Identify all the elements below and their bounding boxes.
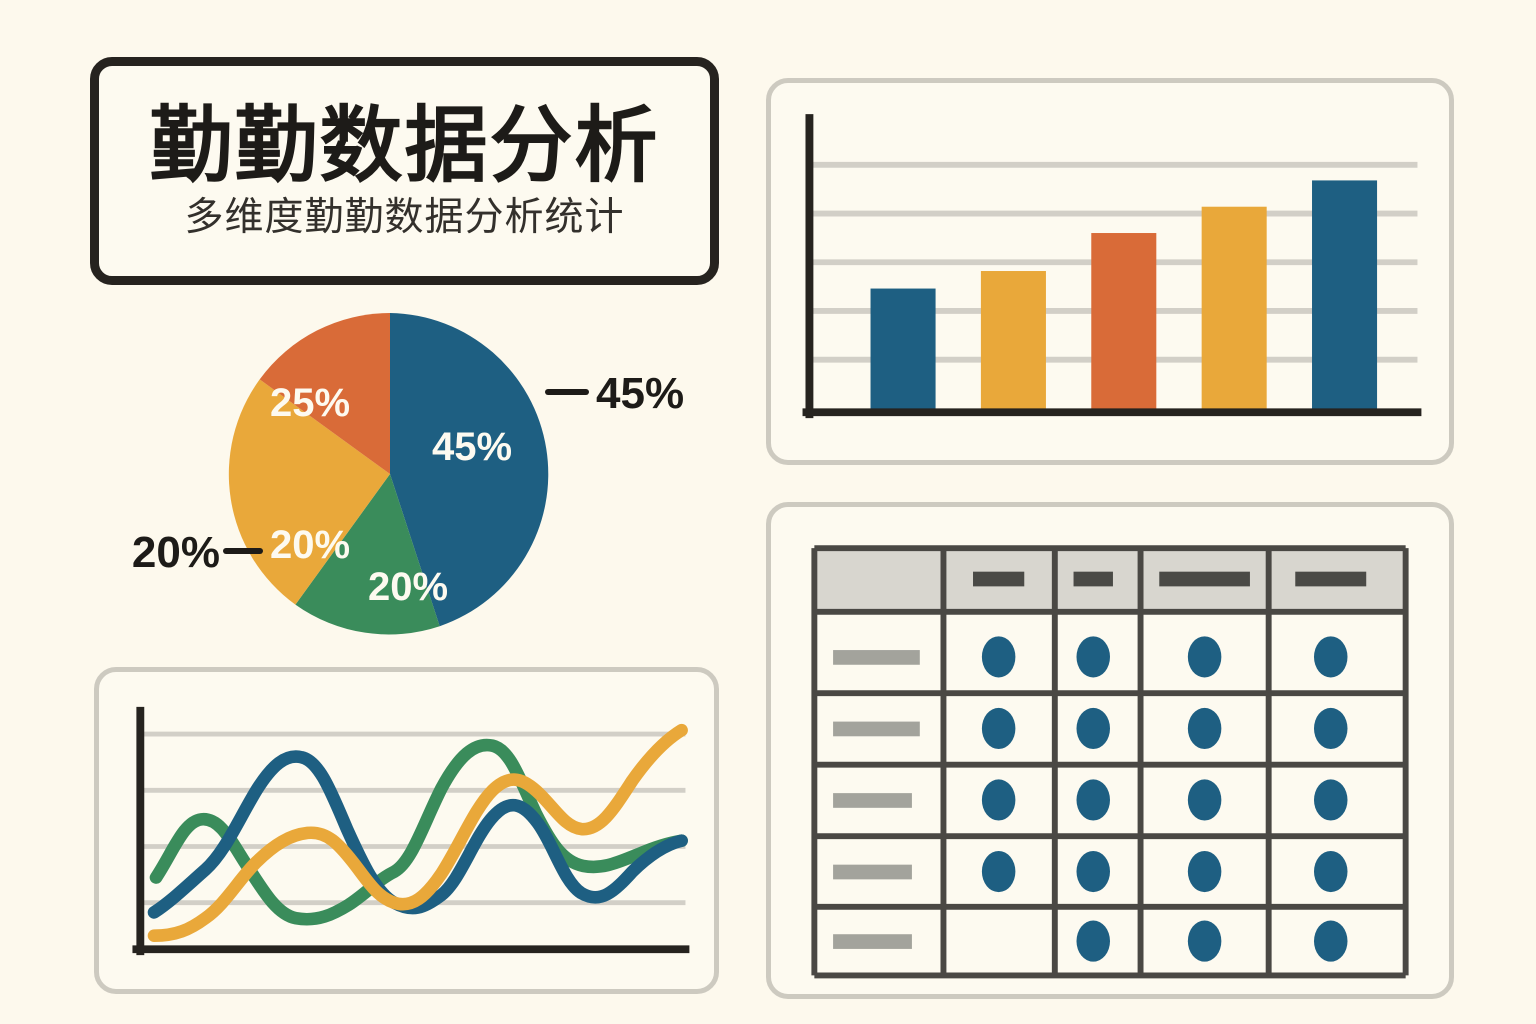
table-dot [1076,779,1110,820]
bar-1 [871,289,936,413]
table-dot [1188,708,1222,749]
table-dot [1314,921,1348,962]
bar-5 [1312,180,1377,412]
table-header-bar-3 [1159,572,1250,587]
table-header-bar-2 [1074,572,1113,587]
table-dot [1188,636,1222,677]
table-dot [1188,779,1222,820]
table-dot [1188,851,1222,892]
pie-label-orange: 25% [270,381,350,425]
line-chart-panel [94,667,719,994]
bar-chart-panel [766,78,1454,465]
table-dot [982,851,1016,892]
table-dot [1188,921,1222,962]
pie-label-blue: 45% [432,425,512,469]
table-row-label-4 [833,865,912,880]
table-dot [1314,636,1348,677]
page-title: 勤勤数据分析 [150,102,660,189]
table-row-label-1 [833,650,920,665]
table-header-bar-1 [973,572,1024,587]
pie-callout-right: 45% [596,369,684,418]
table-panel [766,502,1454,999]
page-subtitle: 多维度勤勤数据分析统计 [184,197,624,240]
table-dot [1076,851,1110,892]
table-header-bar-4 [1295,572,1366,587]
bar-4 [1202,207,1267,413]
table-row-label-3 [833,793,912,808]
data-table-svg [771,507,1449,994]
table-dot [1314,779,1348,820]
table-gridlines [814,548,1405,975]
pie-label-green: 20% [368,565,448,609]
table-dot [982,636,1016,677]
table-dots [982,636,1348,961]
table-dot [1076,708,1110,749]
table-dot [1076,921,1110,962]
table-dot [1076,636,1110,677]
table-dot [982,779,1016,820]
infographic-canvas: 勤勤数据分析 多维度勤勤数据分析统计 45% 20% 20% 25% 45% 2… [0,0,1536,1024]
pie-chart-svg: 45% 20% 20% 25% 45% 20% [108,288,708,660]
pie-callout-left: 20% [132,528,220,577]
pie-chart: 45% 20% 20% 25% 45% 20% [108,288,708,660]
table-dot [1314,708,1348,749]
bar-3 [1091,233,1156,412]
title-card: 勤勤数据分析 多维度勤勤数据分析统计 [90,57,719,285]
line-chart-svg [99,672,714,989]
table-row-label-5 [833,934,912,949]
table-dot [1314,851,1348,892]
table-row-label-2 [833,722,920,737]
pie-label-yellow: 20% [270,523,350,567]
bar-chart-svg [771,83,1449,460]
table-dot [982,708,1016,749]
bar-2 [981,271,1046,412]
